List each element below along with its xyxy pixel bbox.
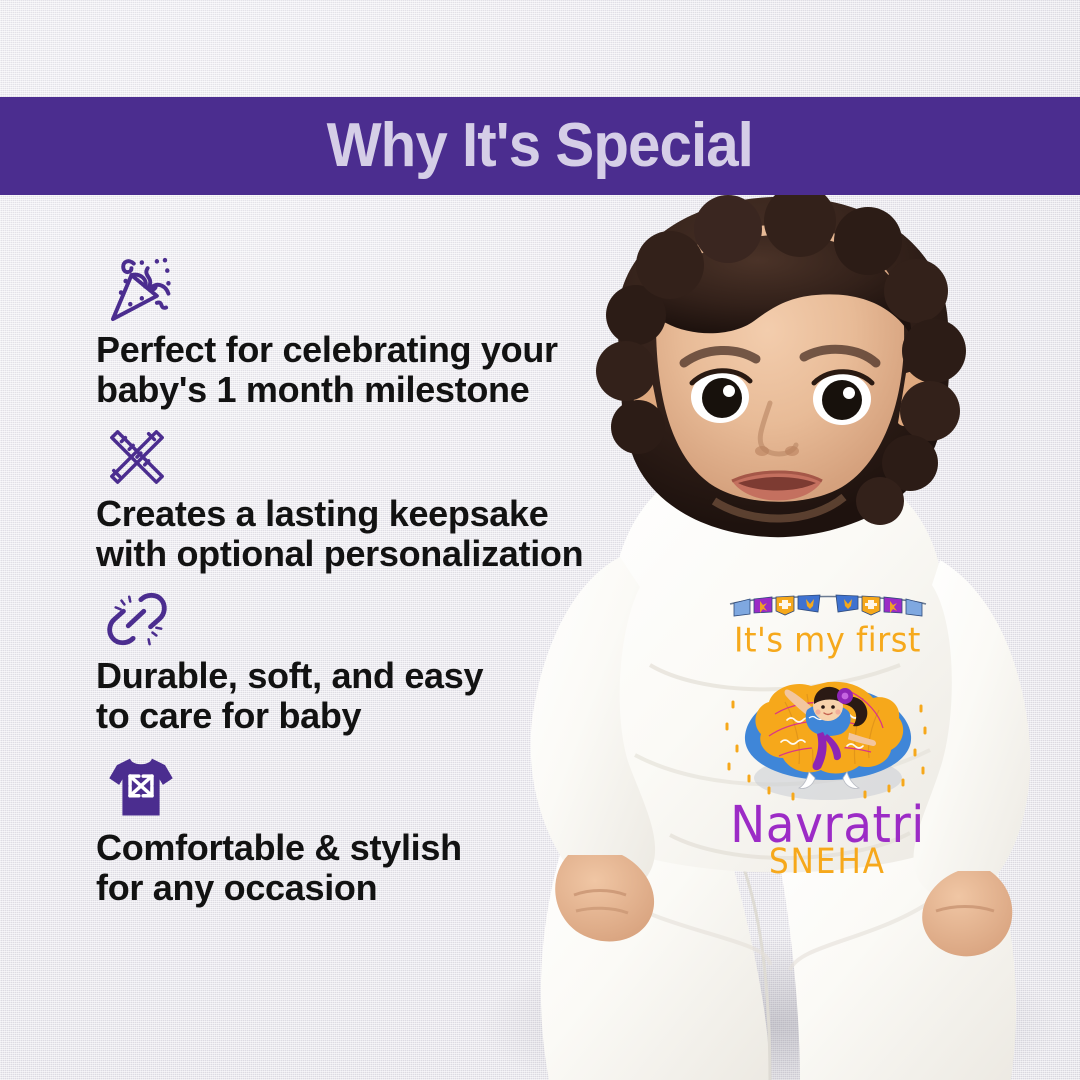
page-title: Why It's Special — [327, 115, 753, 177]
feature-item-personalization: Creates a lasting keepsake with optional… — [96, 426, 626, 574]
header-band: Why It's Special — [0, 97, 1080, 195]
garba-dancer-artwork — [723, 658, 933, 808]
print-line-name: SNEHA — [715, 845, 940, 880]
print-line-first: It's my first — [715, 623, 940, 657]
feature-list: Perfect for celebrating your baby's 1 mo… — [96, 252, 626, 919]
feature-item-comfort: Comfortable & stylish for any occasion — [96, 752, 626, 908]
chain-link-sparkle-icon — [106, 588, 168, 650]
ruler-pencil-icon — [106, 426, 168, 488]
feature-label: Perfect for celebrating your baby's 1 mo… — [96, 330, 626, 410]
feature-label: Durable, soft, and easy to care for baby — [96, 656, 626, 736]
romper-print-graphic: It's my first — [715, 592, 940, 912]
feature-item-durability: Durable, soft, and easy to care for baby — [96, 588, 626, 736]
feature-label: Comfortable & stylish for any occasion — [96, 828, 626, 908]
poster-canvas: It's my first — [0, 0, 1080, 1080]
party-popper-icon — [106, 252, 180, 326]
feature-label: Creates a lasting keepsake with optional… — [96, 494, 626, 574]
feature-item-celebration: Perfect for celebrating your baby's 1 mo… — [96, 252, 626, 410]
tshirt-resize-icon — [106, 752, 176, 822]
